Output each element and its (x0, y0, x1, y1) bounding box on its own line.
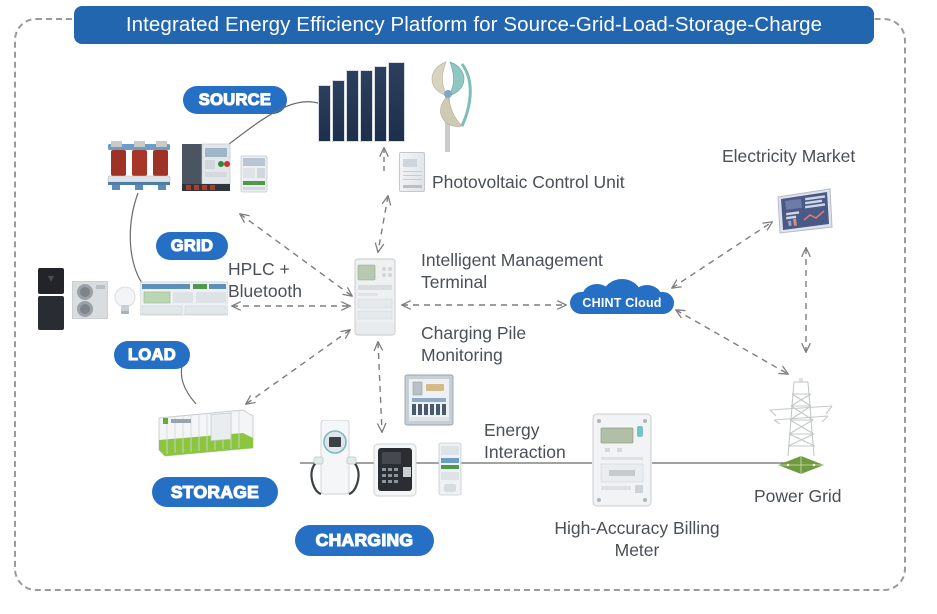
chint-cloud-label: CHINT Cloud (570, 292, 674, 314)
charging-monitor-box-icon (403, 371, 455, 429)
din-meter-small-icon (438, 442, 462, 496)
ac-charging-terminal-icon (373, 443, 417, 497)
energy-storage-icon (155, 406, 255, 458)
power-tower-icon (762, 376, 840, 476)
charging-pile-icon (307, 420, 363, 498)
pv-control-unit-icon (399, 152, 425, 192)
wind-turbine-icon (418, 56, 478, 152)
transformer-icon (106, 139, 172, 191)
light-bulb-icon (114, 285, 136, 315)
load-cabinet-icon (38, 268, 64, 330)
molded-case-breaker-icon (240, 155, 268, 193)
intelligent-terminal-icon (354, 258, 396, 336)
solar-array-icon (318, 62, 418, 142)
air-conditioner-icon (72, 281, 108, 319)
din-rail-meter-icon (140, 280, 228, 318)
diagram-canvas: Integrated Energy Efficiency Platform fo… (0, 0, 937, 614)
billing-meter-icon (591, 412, 653, 508)
air-circuit-breaker-icon (180, 141, 232, 193)
market-dashboard-icon (776, 187, 834, 235)
chint-cloud-icon: CHINT Cloud (570, 280, 674, 314)
